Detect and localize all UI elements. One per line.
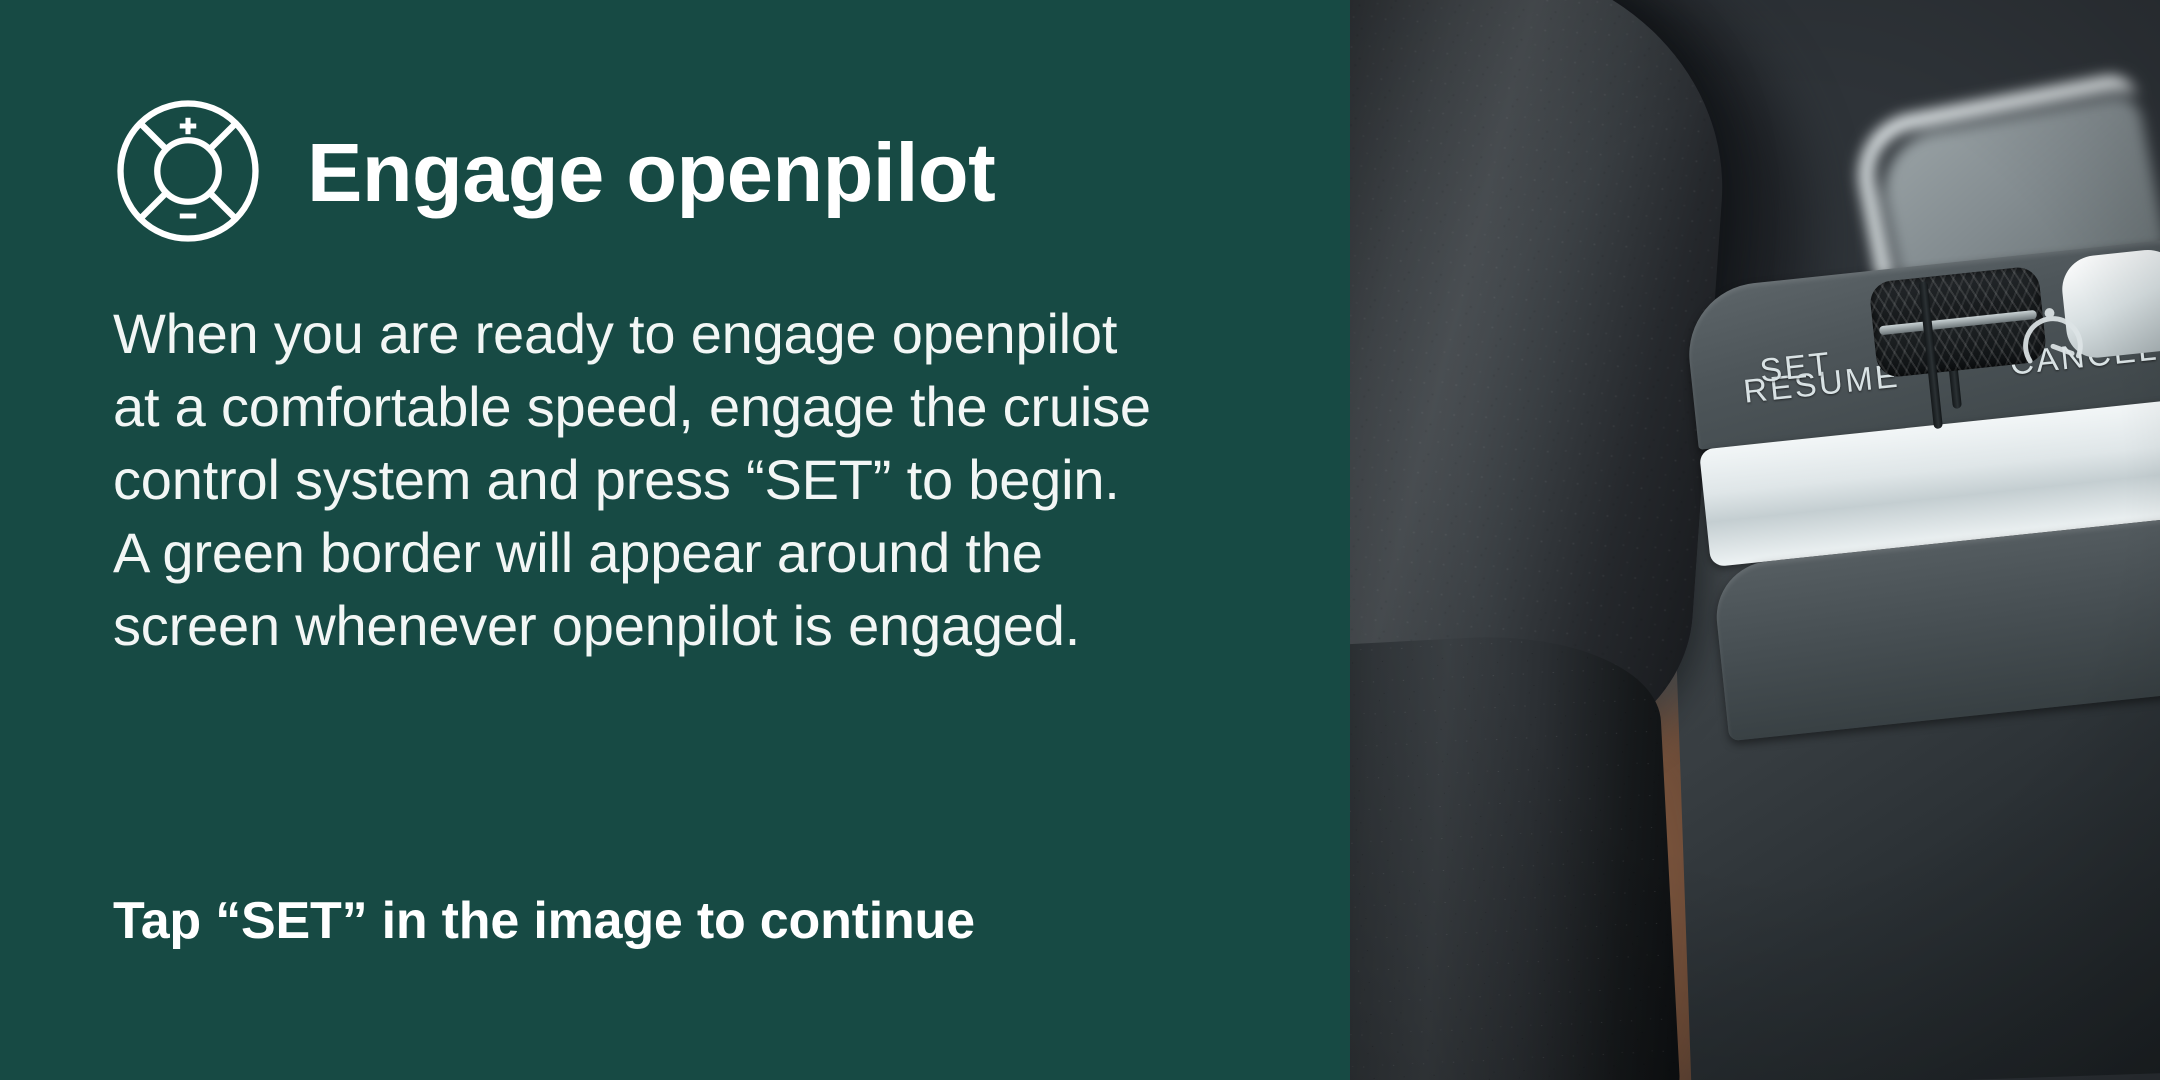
body-line: at a comfortable speed, engage the cruis… xyxy=(113,370,1293,443)
onboarding-screen: Engage openpilot When you are ready to e… xyxy=(0,0,2160,1080)
cruise-control-icon xyxy=(113,96,263,246)
instruction-body: When you are ready to engage openpilot a… xyxy=(113,297,1293,662)
panel-content: Engage openpilot When you are ready to e… xyxy=(113,0,1303,1080)
page-title: Engage openpilot xyxy=(307,131,995,214)
cruise-control-button-cluster[interactable]: RESUME CANCEL SET xyxy=(1682,236,2160,847)
instruction-panel: Engage openpilot When you are ready to e… xyxy=(0,0,1350,1080)
body-line: control system and press “SET” to begin. xyxy=(113,443,1293,516)
body-line: When you are ready to engage openpilot xyxy=(113,297,1293,370)
body-line: A green border will appear around the xyxy=(113,516,1293,589)
steering-wheel-lower-texture xyxy=(1350,628,1683,1080)
continue-instruction: Tap “SET” in the image to continue xyxy=(113,890,975,952)
body-line: screen whenever openpilot is engaged. xyxy=(113,589,1293,662)
panel-header: Engage openpilot xyxy=(113,96,995,246)
steering-wheel-photo[interactable]: RESUME CANCEL SET xyxy=(1350,0,2160,1080)
